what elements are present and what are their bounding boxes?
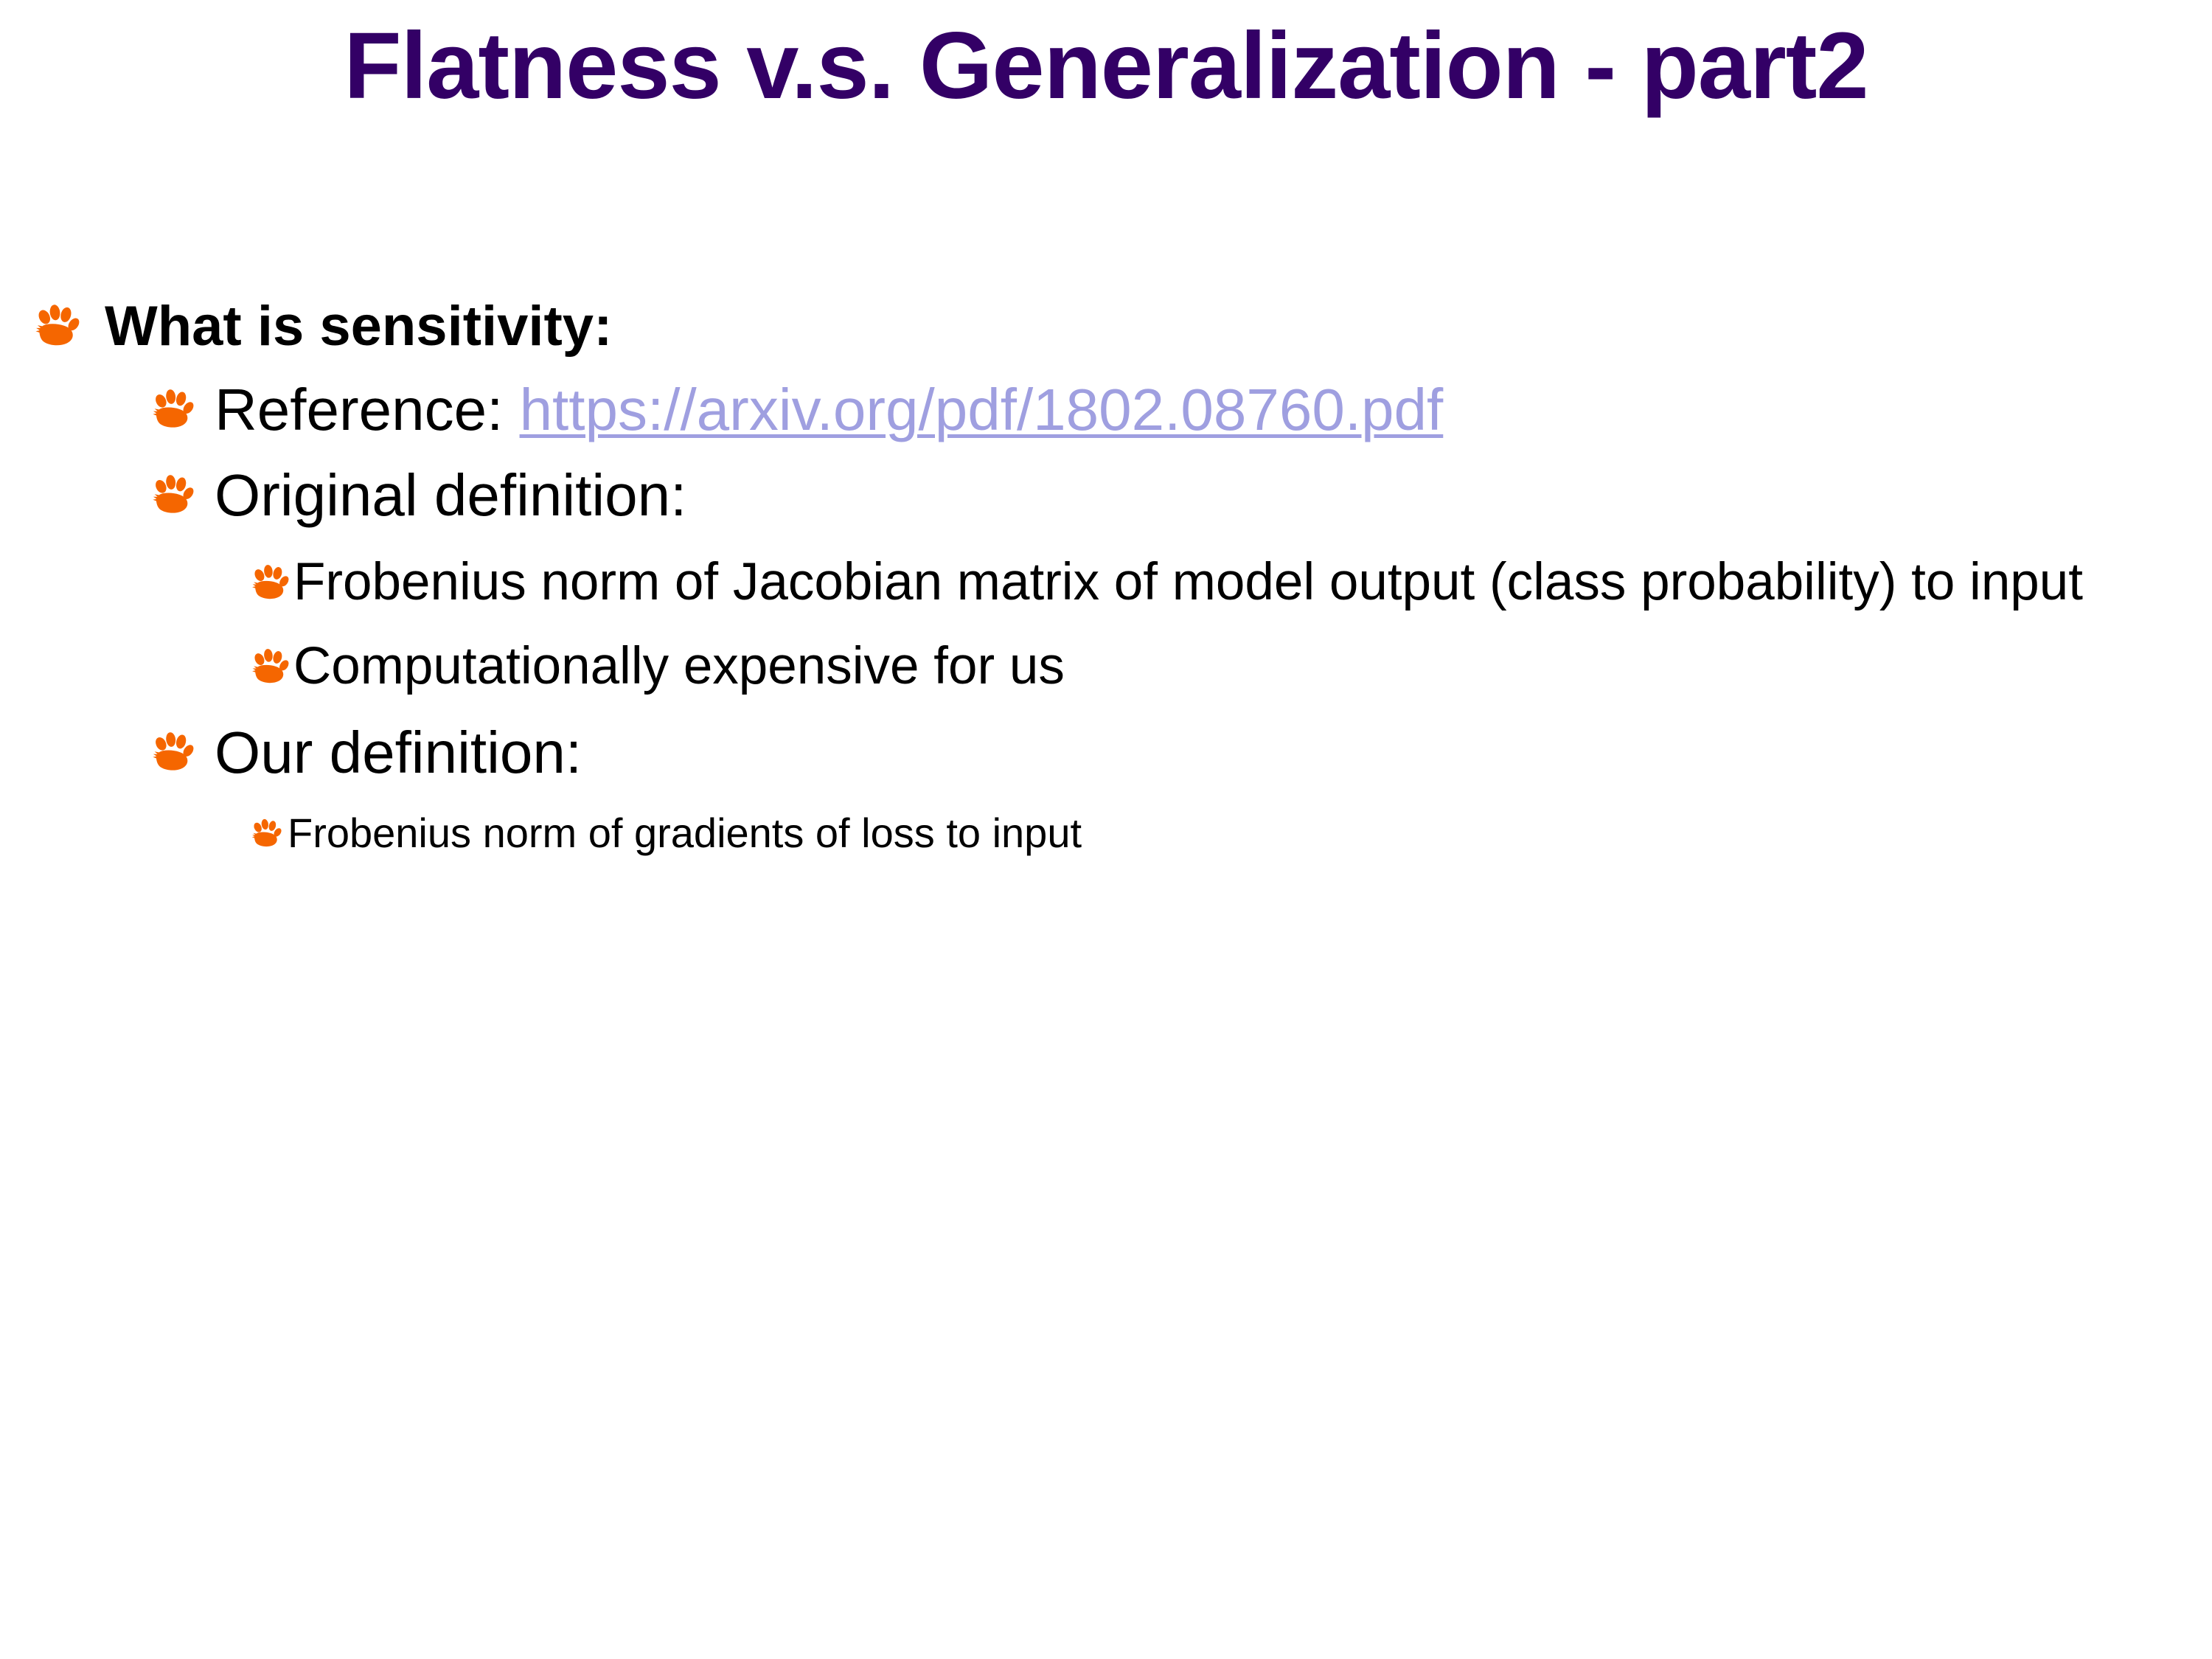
outline-item-computationally-expensive: Computationally expensive for us <box>0 635 2212 698</box>
slide-title-block: Flatness v.s. Generalization - part2 <box>111 13 2101 120</box>
reference-prefix-label: Reference: <box>215 377 520 442</box>
outline-item-label: Original definition: <box>215 461 2212 530</box>
outline-item-reference: Reference: https://arxiv.org/pdf/1802.08… <box>0 375 2212 445</box>
clemson-tiger-paw-icon <box>151 389 194 431</box>
outline-item-frobenius-gradients: Frobenius norm of gradients of loss to i… <box>0 808 2212 858</box>
outline-item-label: Reference: https://arxiv.org/pdf/1802.08… <box>215 375 2212 445</box>
reference-link[interactable]: https://arxiv.org/pdf/1802.08760.pdf <box>520 377 1444 442</box>
clemson-tiger-paw-icon <box>251 818 282 849</box>
clemson-tiger-paw-icon <box>251 648 289 686</box>
outline-item-label: What is sensitivity: <box>105 295 2212 359</box>
clemson-tiger-paw-icon <box>34 304 80 349</box>
outline-item-label: Computationally expensive for us <box>293 635 2194 698</box>
page-title: Flatness v.s. Generalization - part2 <box>111 13 2101 120</box>
outline-item-label: Our definition: <box>215 718 2212 787</box>
outline-item-what-is-sensitivity: What is sensitivity: <box>0 295 2212 359</box>
slide-body-outline: What is sensitivity: Reference: https://… <box>0 295 2212 866</box>
outline-item-our-definition: Our definition: <box>0 718 2212 787</box>
clemson-tiger-paw-icon <box>151 474 194 517</box>
slide-canvas: Flatness v.s. Generalization - part2 Wha… <box>0 0 2212 1659</box>
clemson-tiger-paw-icon <box>251 564 289 602</box>
outline-item-original-definition: Original definition: <box>0 461 2212 530</box>
outline-item-label: Frobenius norm of gradients of loss to i… <box>288 808 2194 858</box>
outline-item-label: Frobenius norm of Jacobian matrix of mod… <box>293 551 2194 613</box>
outline-item-frobenius-jacobian: Frobenius norm of Jacobian matrix of mod… <box>0 551 2212 613</box>
clemson-tiger-paw-icon <box>151 731 194 774</box>
